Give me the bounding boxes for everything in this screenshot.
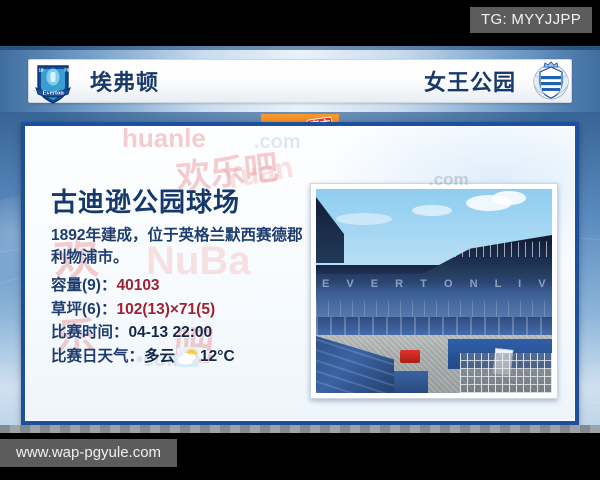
footer-url-label: www.wap-pgyule.com [0,439,177,467]
top-black-strip: TG: MYYJJPP [0,0,600,46]
stadium-description: 1892年建成，位于英格兰默西赛德郡利物浦市。 [51,225,313,269]
match-weather-value: 多云 [144,345,175,369]
away-team-name: 女王公园 [424,65,516,97]
partly-cloudy-icon [177,347,199,367]
svg-text:18: 18 [39,68,45,73]
decorative-dot-strip [0,425,600,433]
capacity-label: 容量(9)： [51,277,116,294]
stadium-title: 古迪逊公园球场 [51,189,313,216]
stadium-info-panel-inner: .com huanle 欢乐吧 Yuan 欢 NuBa 乐 吧 •com 古迪逊… [26,127,574,420]
tg-watermark-label: TG: MYYJJPP [470,7,592,33]
pitch-size-value: 102(13)×71(5) [116,301,215,318]
capacity-value: 40103 [116,277,159,294]
away-team-block[interactable]: 女王公园 [424,58,574,104]
cloud-shape [492,191,526,205]
home-team-block[interactable]: Everton 18 78 埃弗顿 [30,58,260,104]
main-stage: Everton 18 78 埃弗顿 女王公园 [0,46,600,433]
watermark-scribble: huanle [122,127,206,154]
stadium-photo: E V E R T O N L I V E R P [316,189,552,393]
match-time-value: 04-13 22:00 [129,324,213,341]
svg-text:Everton: Everton [42,89,64,96]
cloud-shape [336,213,392,225]
match-header-band: Everton 18 78 埃弗顿 女王公园 [0,50,600,112]
watermark-scribble: .com [254,131,301,154]
red-cart [400,350,420,363]
photo-watermark: .com [429,170,469,190]
stand-banner-text: E V E R T O N L I V E R P [322,278,552,290]
match-time-row: 比赛时间：04-13 22:00 [51,321,313,345]
stadium-fence [460,353,552,393]
stadium-info-column: 古迪逊公园球场 1892年建成，位于英格兰默西赛德郡利物浦市。 容量(9)：40… [51,189,313,368]
qpr-crest-icon [528,58,574,104]
match-weather-label: 比赛日天气： [51,345,144,369]
stadium-roof-truss [420,241,552,257]
pitch-size-row: 草坪(6)：102(13)×71(5) [51,298,313,322]
stadium-roof-left [316,197,344,263]
capacity-row: 容量(9)：40103 [51,274,313,298]
stadium-info-panel: .com huanle 欢乐吧 Yuan 欢 NuBa 乐 吧 •com 古迪逊… [21,122,579,425]
svg-text:78: 78 [64,68,70,73]
stadium-photo-frame[interactable]: .com E V E R T O N L I V E R P [310,183,558,399]
match-weather-row: 比赛日天气：多云 12°C [51,345,313,369]
home-team-name: 埃弗顿 [90,65,159,97]
match-time-label: 比赛时间： [51,324,129,341]
match-temperature-value: 12°C [200,345,235,369]
pitch-size-label: 草坪(6)： [51,301,116,318]
everton-crest-icon: Everton 18 78 [30,58,76,104]
cloud-shape [412,205,452,216]
